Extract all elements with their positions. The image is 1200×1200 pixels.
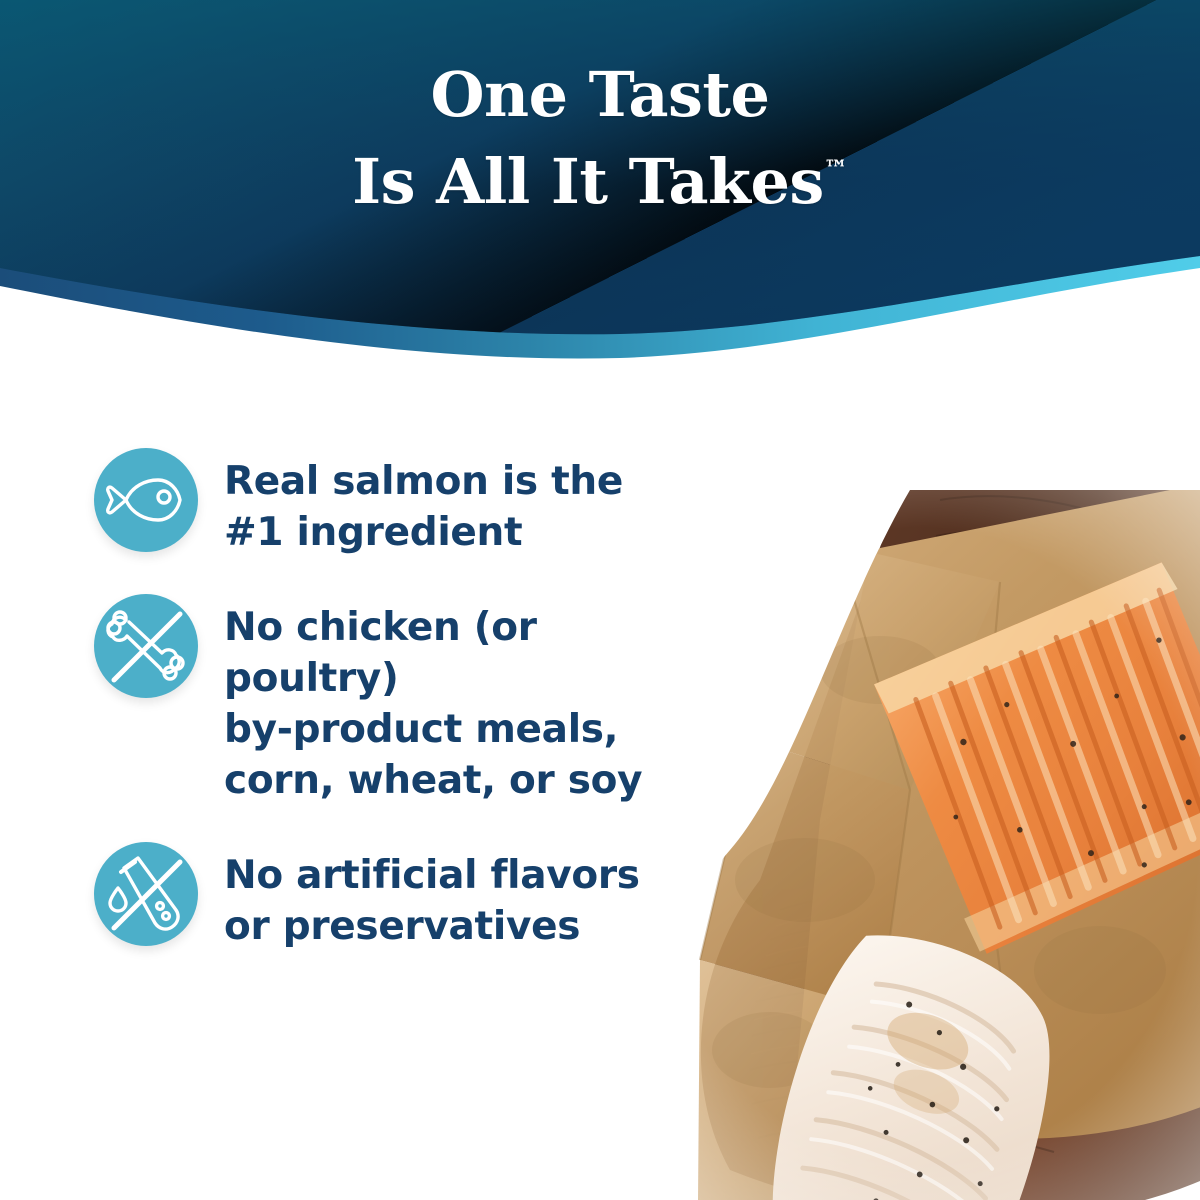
benefits-list: Real salmon is the #1 ingredient [94, 448, 714, 988]
promo-graphic: One TasteIs All It Takes™ [0, 0, 1200, 1200]
benefit-item-salmon: Real salmon is the #1 ingredient [94, 448, 714, 558]
benefit-item-no-artificial: No artificial flavors or preservatives [94, 842, 714, 952]
headline-line-1: One Taste [431, 58, 770, 131]
no-bone-icon [94, 594, 198, 698]
fish-icon-badge [94, 448, 198, 552]
trademark-symbol: ™ [824, 154, 848, 183]
no-test-tube-icon [94, 842, 198, 946]
benefit-text-salmon: Real salmon is the #1 ingredient [224, 448, 623, 558]
no-bone-icon-badge [94, 594, 198, 698]
benefit-text-no-artificial: No artificial flavors or preservatives [224, 842, 640, 952]
benefit-item-no-poultry: No chicken (or poultry) by-product meals… [94, 594, 714, 806]
header-banner: One TasteIs All It Takes™ [0, 0, 1200, 380]
page-title: One TasteIs All It Takes™ [0, 58, 1200, 219]
no-test-tube-icon-badge [94, 842, 198, 946]
headline-line-2: Is All It Takes [352, 145, 824, 218]
fish-icon [94, 448, 198, 552]
benefit-text-no-poultry: No chicken (or poultry) by-product meals… [224, 594, 714, 806]
